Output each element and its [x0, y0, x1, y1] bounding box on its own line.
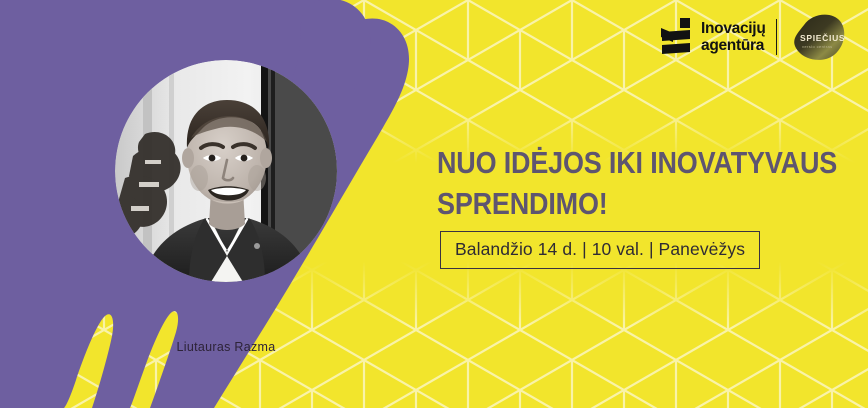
- spiecius-logo-name: SPIEČIUS: [800, 32, 845, 43]
- agency-logo-line-1: Inovacijų: [701, 20, 766, 37]
- agency-logo-line-2: agentūra: [701, 37, 766, 54]
- event-banner: Liutauras Razma NUO IDĖJOS IKI INOVATYVA…: [0, 0, 868, 408]
- spiecius-logo: SPIEČIUS verslo centras: [788, 13, 846, 61]
- spiecius-logo-subtitle: verslo centras: [802, 44, 833, 49]
- headline-line-2: SPRENDIMO!: [437, 184, 785, 225]
- event-details-box: Balandžio 14 d. | 10 val. | Panevėžys: [440, 231, 760, 269]
- speaker-name: Liutauras Razma: [115, 340, 337, 354]
- speaker-photo: [115, 60, 337, 282]
- page-title: NUO IDĖJOS IKI INOVATYVAUS SPRENDIMO!: [437, 143, 785, 225]
- logo-divider: [776, 19, 777, 55]
- inovaciju-agentura-logo: Inovacijų agentūra: [660, 17, 766, 57]
- agency-logo-text: Inovacijų agentūra: [701, 20, 766, 55]
- three-bar-square-mark-icon: [660, 17, 694, 57]
- logo-row: Inovacijų agentūra SPIEČIUS verslo centr…: [660, 10, 846, 64]
- headline-line-1: NUO IDĖJOS IKI INOVATYVAUS: [437, 143, 785, 184]
